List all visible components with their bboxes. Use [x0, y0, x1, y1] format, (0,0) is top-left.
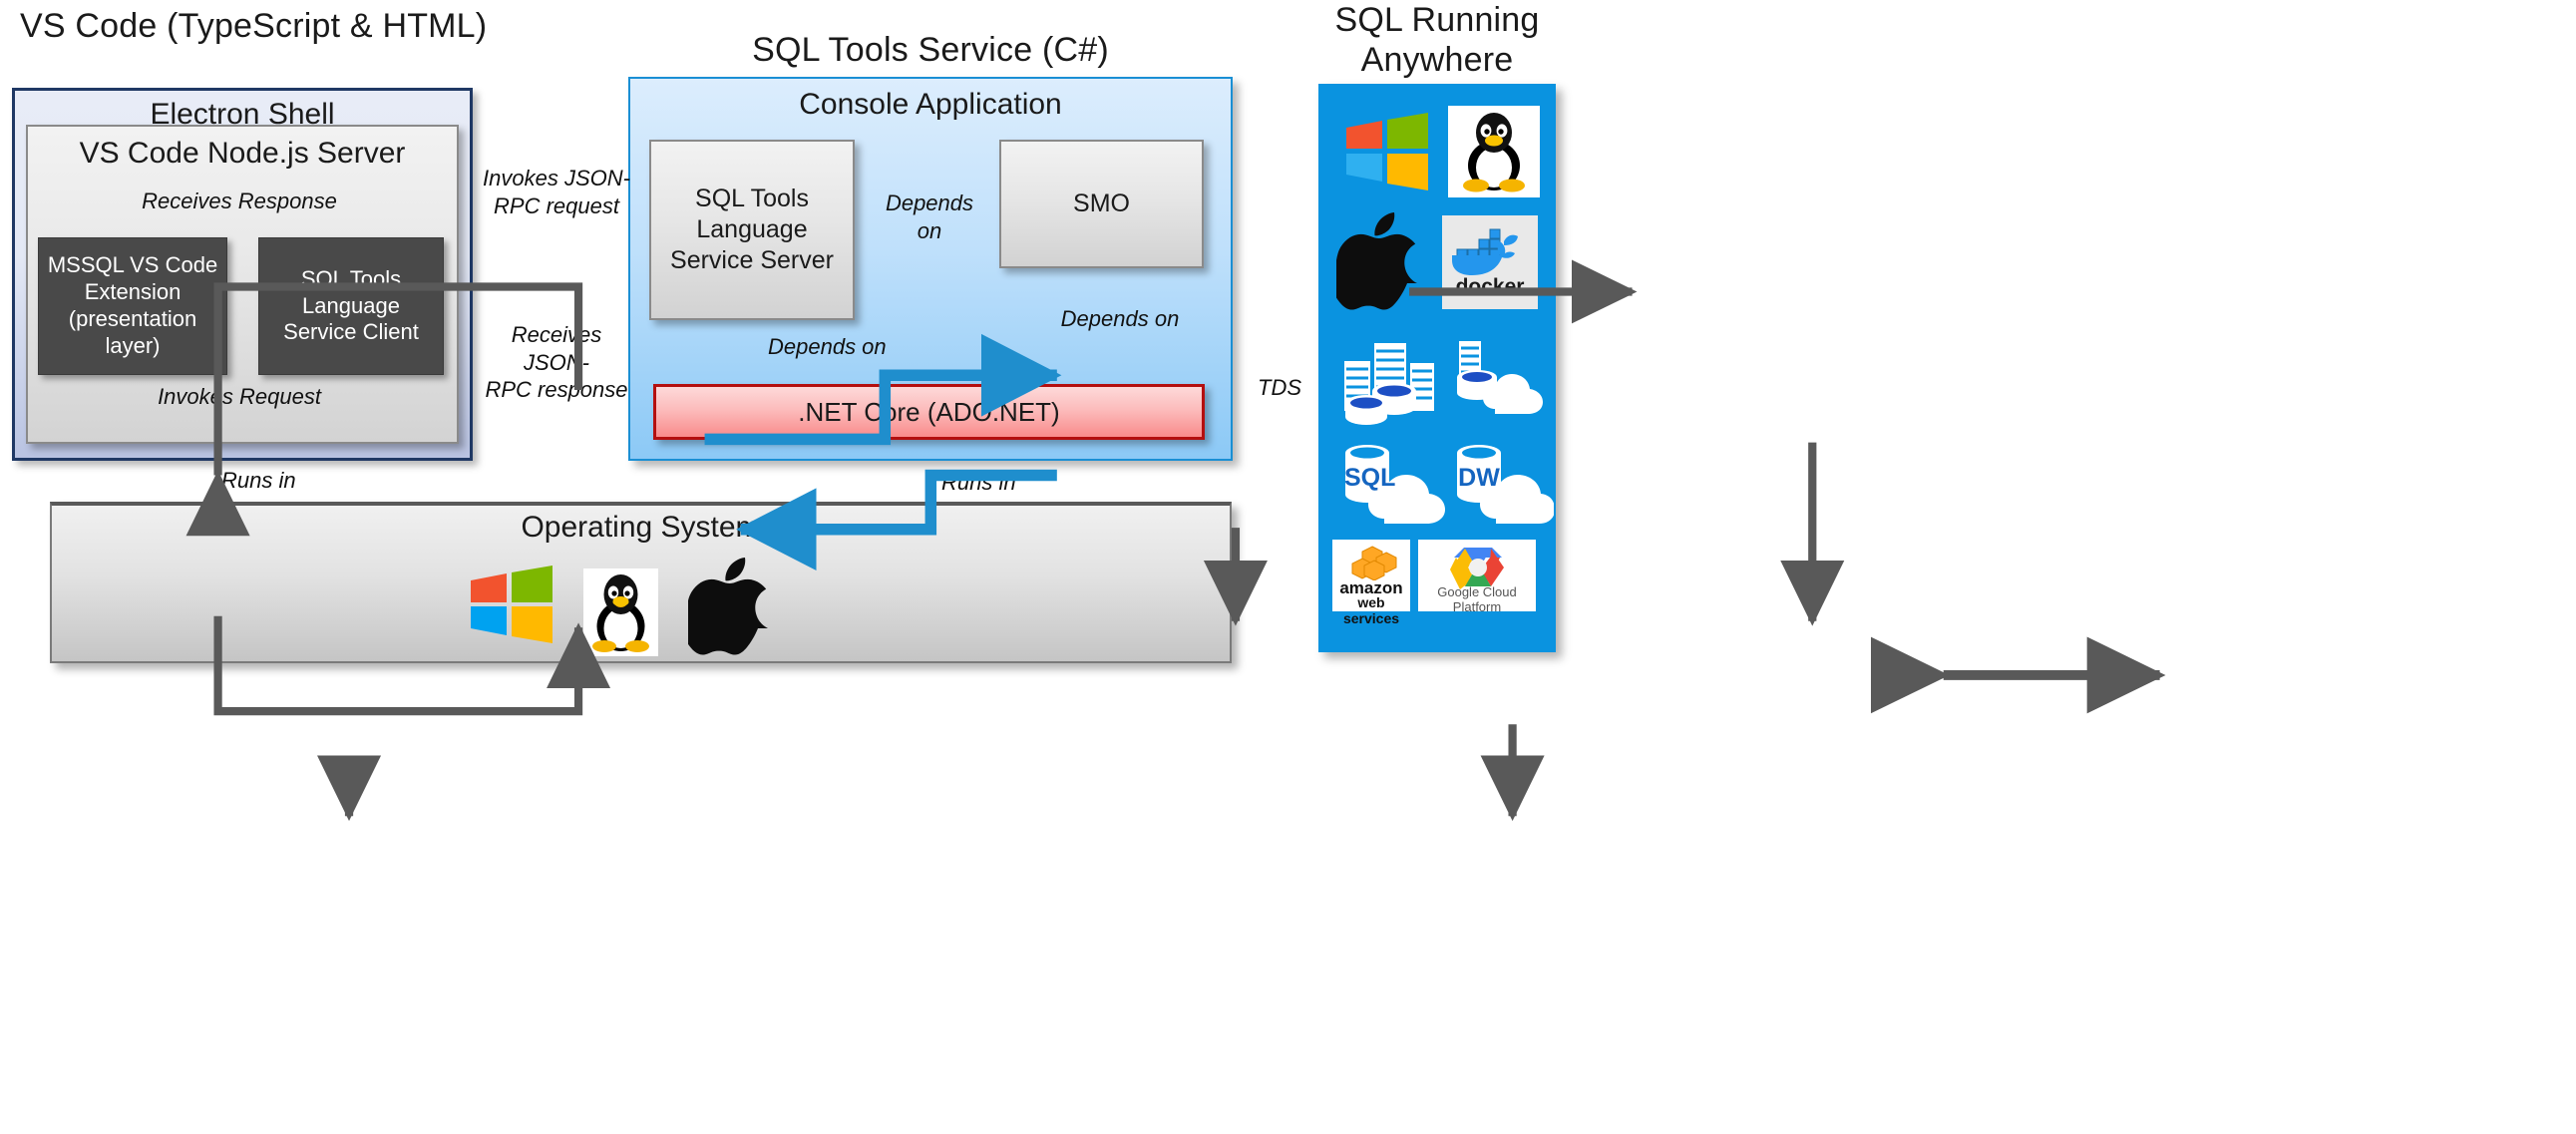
edge-label-receives-response: Receives Response: [115, 188, 364, 215]
sql-tools-language-service-client-box[interactable]: SQL Tools Language Service Client: [258, 237, 444, 375]
console-application-title: Console Application: [628, 88, 1233, 122]
anywhere-windows-logo-icon: [1344, 110, 1430, 193]
anywhere-apple-logo-icon: [1336, 211, 1426, 311]
smo-box[interactable]: SMO: [999, 140, 1204, 268]
sql-tools-language-service-server-box[interactable]: SQL Tools Language Service Server: [649, 140, 855, 320]
anywhere-aws-label-bottom: web services: [1332, 594, 1410, 626]
caption-vscode: VS Code (TypeScript & HTML): [20, 6, 658, 46]
caption-sql-running-anywhere: SQL Running Anywhere: [1306, 0, 1568, 80]
os-apple-logo-icon: [688, 557, 776, 656]
edge-label-invokes-jsonrpc-request: Invokes JSON- RPC request: [477, 165, 636, 219]
mssql-vscode-extension-box[interactable]: MSSQL VS Code Extension (presentation la…: [38, 237, 227, 375]
anywhere-cloud-database-icon: [1451, 337, 1551, 425]
anywhere-amazon-web-services-icon: [1344, 545, 1398, 580]
edge-label-receives-jsonrpc-response: Receives JSON- RPC response: [477, 321, 636, 404]
edge-label-depends-on-dotnet-from-smo: Depends on: [1025, 305, 1215, 333]
anywhere-sql-cylinder-label: SQL: [1344, 464, 1392, 493]
dotnet-core-adonet-box[interactable]: .NET Core (ADO.NET): [653, 384, 1205, 440]
anywhere-dw-cylinder-label: DW: [1455, 464, 1503, 493]
anywhere-docker-label: docker: [1442, 275, 1538, 299]
edge-label-invokes-request: Invokes Request: [115, 383, 364, 411]
edge-label-tds: TDS: [1245, 374, 1314, 402]
os-linux-tux-icon: [586, 570, 655, 654]
anywhere-linux-tux-icon: [1454, 110, 1534, 193]
edge-label-depends-on-dotnet-from-server: Depends on: [768, 333, 957, 361]
caption-sql-tools-service: SQL Tools Service (C#): [628, 30, 1233, 70]
edge-label-depends-on-smo: Depends on: [870, 189, 989, 244]
edge-label-runs-in-vscode: Runs in: [221, 467, 381, 495]
anywhere-gcp-label: Google Cloud Platform: [1418, 584, 1536, 614]
vscode-node-server-title: VS Code Node.js Server: [26, 137, 459, 171]
edge-label-runs-in-service: Runs in: [941, 469, 1101, 497]
os-windows-logo-icon: [469, 565, 554, 644]
operating-system-title: Operating System: [50, 511, 1232, 545]
anywhere-on-premises-datacenter-icon: [1336, 329, 1446, 425]
anywhere-docker-whale-icon: [1446, 219, 1534, 279]
